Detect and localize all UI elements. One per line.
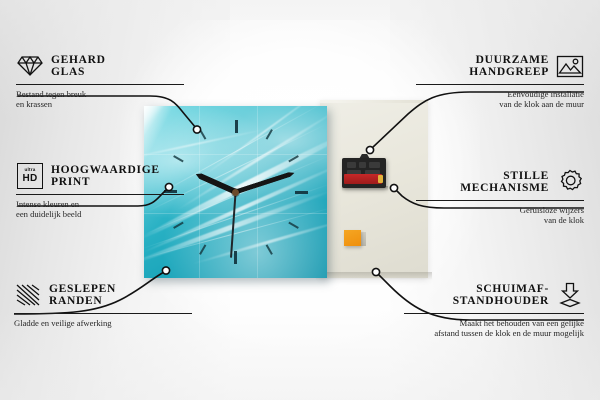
feature-geslepen-randen: GESLEPEN RANDEN Gladde en veilige afwerk…: [14, 281, 192, 328]
ultra-hd-icon: ultra HD: [16, 162, 44, 190]
connector-node-geslepen-randen: [162, 267, 169, 274]
feature-title: GESLEPEN RANDEN: [49, 283, 116, 308]
feature-divider: [416, 200, 584, 201]
hd-badge: ultra HD: [17, 163, 43, 189]
feature-header: GEHARD GLAS: [16, 52, 184, 80]
feature-description: Bestand tegen breuk en krassen: [16, 89, 184, 110]
feature-duurzame-handgreep: DUURZAME HANDGREEP Eenvoudige installati…: [416, 52, 584, 110]
feature-description: Maakt het behouden van een gelijke afsta…: [404, 318, 584, 339]
picture-frame-icon: [556, 52, 584, 80]
feature-description: Gladde en veilige afwerking: [14, 318, 192, 328]
feature-description: Intense kleuren en een duidelijk beeld: [16, 199, 184, 220]
hd-badge-big-label: HD: [22, 174, 37, 184]
beveled-edge-icon: [14, 281, 42, 309]
feature-gehard-glas: GEHARD GLAS Bestand tegen breuk en krass…: [16, 52, 184, 110]
feature-header: ultra HD HOOGWAARDIGE PRINT: [16, 162, 184, 190]
feature-divider: [404, 313, 584, 314]
feature-title: HOOGWAARDIGE PRINT: [51, 164, 160, 189]
feature-description: Eenvoudige installatie van de klok aan d…: [416, 89, 584, 110]
feature-divider: [16, 84, 184, 85]
feature-divider: [14, 313, 192, 314]
feature-header: DUURZAME HANDGREEP: [416, 52, 584, 80]
feature-title: SCHUIMAF- STANDHOUDER: [453, 283, 549, 308]
connector-node-schuimafstandhouder: [372, 268, 379, 275]
feature-schuimafstandhouder: SCHUIMAF- STANDHOUDER Maakt het behouden…: [404, 281, 584, 339]
connector-node-duurzame-handgreep: [366, 146, 373, 153]
feature-stille-mechanisme: STILLE MECHANISME Geruisloze wijzers van…: [416, 168, 584, 226]
feature-title: STILLE MECHANISME: [460, 170, 549, 195]
feature-header: STILLE MECHANISME: [416, 168, 584, 196]
press-down-icon: [556, 281, 584, 309]
feature-header: GESLEPEN RANDEN: [14, 281, 192, 309]
connector-node-gehard-glas: [193, 126, 200, 133]
gear-icon: [556, 168, 584, 196]
infographic-canvas: GEHARD GLAS Bestand tegen breuk en krass…: [0, 0, 600, 400]
feature-divider: [16, 194, 184, 195]
feature-divider: [416, 84, 584, 85]
diamond-icon: [16, 52, 44, 80]
feature-title: DUURZAME HANDGREEP: [469, 54, 549, 79]
connector-node-stille-mechanisme: [390, 184, 397, 191]
feature-hoogwaardige-print: ultra HD HOOGWAARDIGE PRINT Intense kleu…: [16, 162, 184, 220]
feature-header: SCHUIMAF- STANDHOUDER: [404, 281, 584, 309]
feature-description: Geruisloze wijzers van de klok: [416, 205, 584, 226]
feature-title: GEHARD GLAS: [51, 54, 106, 79]
